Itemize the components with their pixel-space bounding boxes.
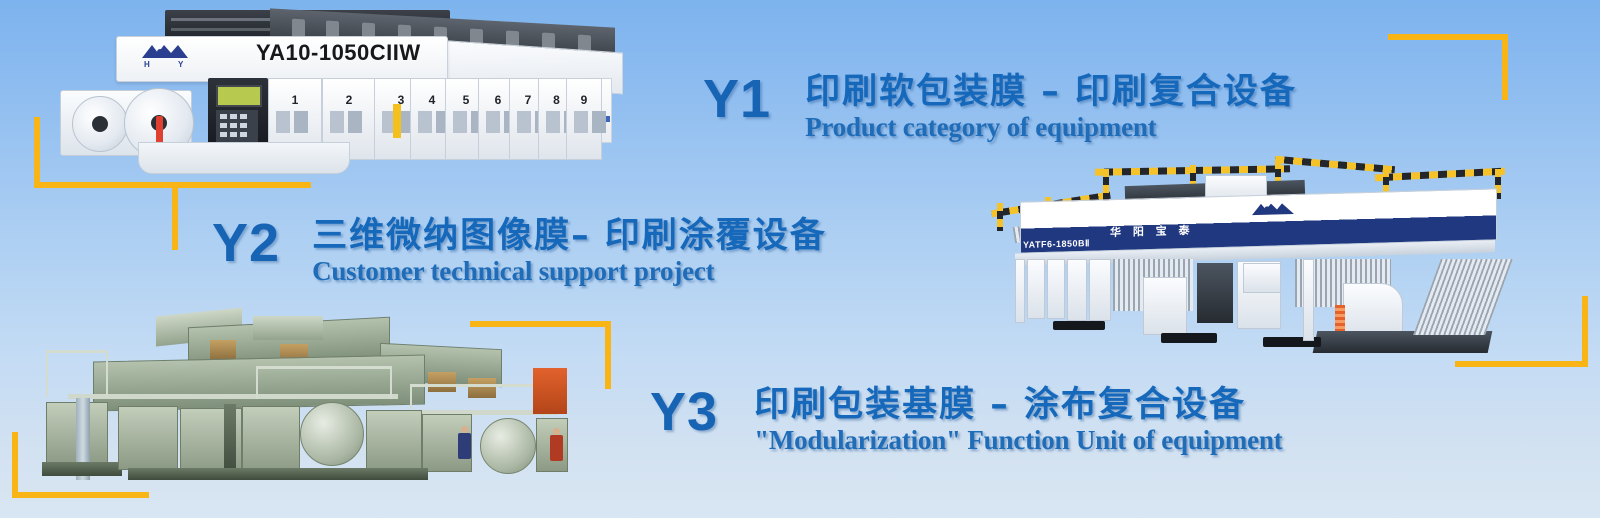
lamination-column-mid [1303,259,1314,341]
coater-rewind-drum [480,418,536,474]
lamination-column-left [1015,259,1025,323]
svg-text:H: H [144,60,150,68]
access-stair [1413,259,1513,335]
bracket-midleft-horizontal [172,182,311,188]
coater-railing-1 [46,350,108,397]
bracket-topright-horizontal [1388,34,1508,40]
bracket-bottomleft-vertical [12,432,18,498]
entry-title-en-y2: Customer technical support project [312,256,827,286]
coater-railing-2 [256,366,392,399]
bracket-topleft-vertical [34,117,40,188]
press-model-label: YA10-1050CIIW [256,40,421,66]
hy-brand-logo: H Y [138,42,200,68]
entry-code-y3: Y3 [650,385,718,439]
press-unit-number: 1 [269,93,321,107]
lamination-unit-c [1067,259,1087,321]
lamination-name-label: 华 阳 宝 泰 [1110,222,1194,240]
coater-main-drum [300,402,364,466]
lamination-drive-1 [1197,263,1233,323]
bracket-bottomright-vertical [1582,296,1588,367]
machine-gravure-printing-press: H Y YA10-1050CIIW 1 2 3 4 5 6 [60,4,605,179]
entry-code-y2: Y2 [212,216,280,270]
worker-1 [458,426,471,460]
bracket-bottomleft-horizontal [12,492,149,498]
bracket-bottomright-horizontal [1455,361,1588,367]
press-unit-number: 2 [323,93,375,107]
coater-unit-1 [118,406,178,470]
coater-orange-panel [533,368,567,414]
bracket-midleft-vertical [172,182,178,250]
entry-title-en-y1: Product category of equipment [805,112,1297,142]
safety-rail-post-3 [1103,169,1109,201]
machine-coating-line [28,306,568,481]
safety-rail-top-right [1275,156,1395,173]
bracket-topleft-horizontal [34,182,172,188]
lamination-foot-1 [1053,321,1105,330]
entry-title-cn-y1: 印刷软包装膜 – 印刷复合设备 [805,72,1297,112]
entry-title-cn-y3: 印刷包装基膜 – 涂布复合设备 [754,385,1282,425]
press-base-panel [138,142,350,174]
coater-motor-1 [210,340,236,360]
coater-base-1 [42,462,122,476]
lamination-model-label: YATF6-1850BⅡ [1023,238,1090,251]
press-yellow-marker [393,104,401,138]
entry-row-y3: Y3 印刷包装基膜 – 涂布复合设备 "Modularization" Func… [650,385,1282,455]
lamination-unit-d [1089,259,1111,321]
lamination-unit-b [1047,259,1065,319]
press-unwind-roll-left [72,96,128,152]
press-unit-number: 9 [567,93,601,107]
entry-row-y1: Y1 印刷软包装膜 – 印刷复合设备 Product category of e… [703,72,1297,142]
entry-row-y2: Y2 三维微纳图像膜– 印刷涂覆设备 Customer technical su… [212,216,827,286]
entry-title-cn-y2: 三维微纳图像膜– 印刷涂覆设备 [312,216,827,256]
safety-rail-post-1 [997,203,1003,231]
coater-unit-3 [242,406,300,474]
press-unit-9: 9 [566,78,602,160]
lamination-cabinet-1 [1243,263,1281,293]
entry-code-y1: Y1 [703,72,771,126]
machine-dry-lamination: 华 阳 宝 泰 YATF6-1850BⅡ [975,155,1515,360]
entry-title-en-y3: "Modularization" Function Unit of equipm… [754,425,1282,455]
coater-roller-frame-1 [224,404,236,476]
coater-unit-4 [366,410,422,472]
lamination-foot-2 [1161,333,1217,343]
coater-base-2 [128,468,428,480]
lamination-unit-e [1143,277,1187,335]
svg-text:Y: Y [178,60,184,68]
product-banner: H Y YA10-1050CIIW 1 2 3 4 5 6 [0,0,1600,518]
lamination-unit-a [1027,259,1045,319]
coater-upper-duct-2 [253,316,323,340]
bracket-mid-vertical [605,321,611,389]
bracket-topright-vertical [1502,34,1508,100]
worker-2 [550,428,563,462]
canopy-brand-logo [1249,200,1299,221]
